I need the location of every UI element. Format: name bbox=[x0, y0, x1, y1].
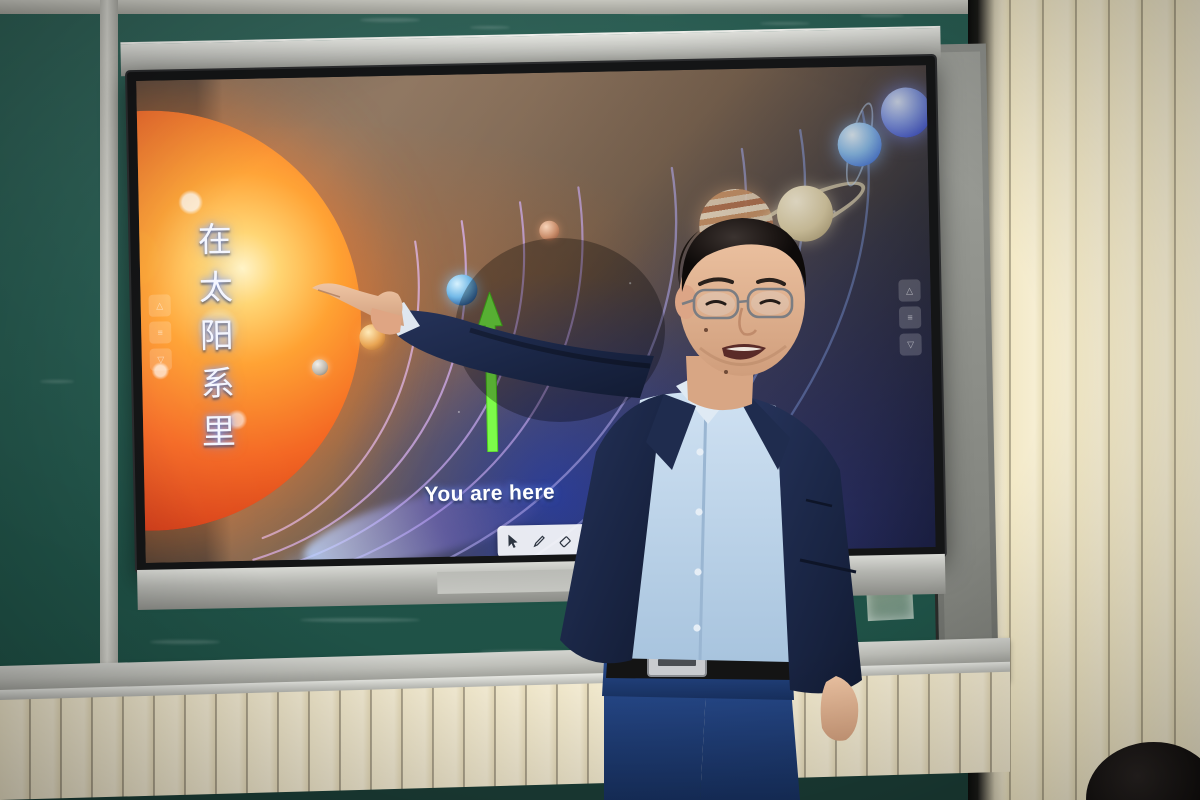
presenter-figure bbox=[0, 0, 1200, 800]
classroom-scene: 在太阳系里 You are here bbox=[0, 0, 1200, 800]
